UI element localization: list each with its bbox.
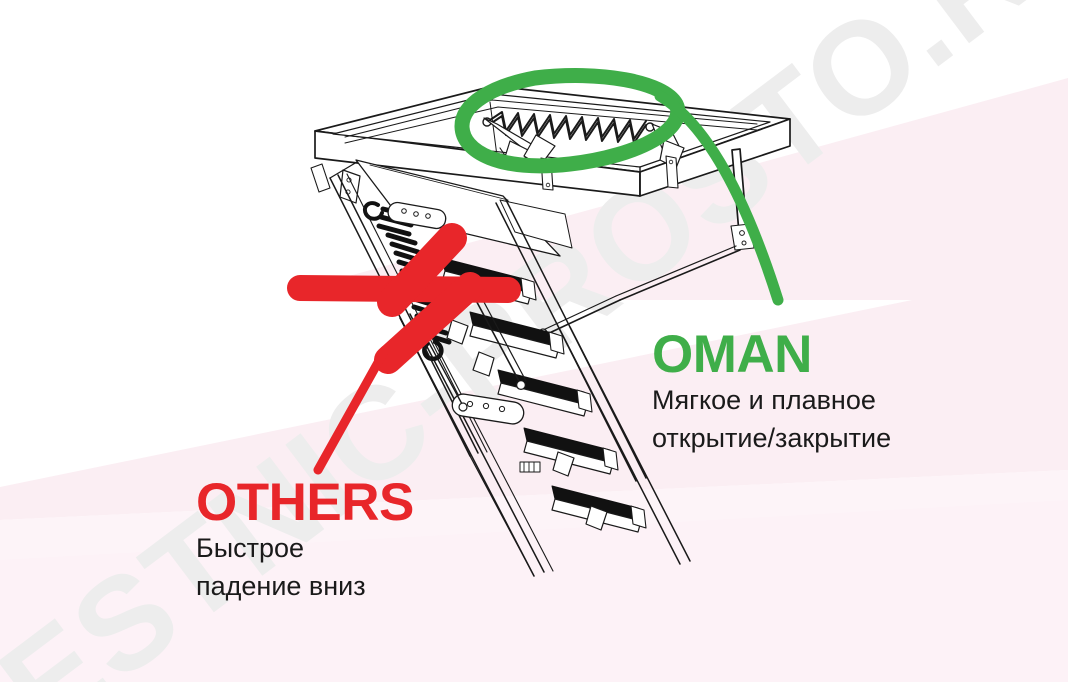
others-headline: OTHERS — [196, 476, 414, 529]
oman-description-line-2: открытие/закрытие — [652, 419, 891, 457]
others-description-line-2: падение вниз — [196, 567, 414, 605]
oman-description-line-1: Мягкое и плавное — [652, 381, 891, 419]
others-description: Быстрое падение вниз — [196, 529, 414, 606]
others-description-line-1: Быстрое — [196, 529, 414, 567]
others-annotation-block: OTHERS Быстрое падение вниз — [196, 476, 414, 606]
oman-headline: OMAN — [652, 328, 891, 381]
oman-annotation-block: OMAN Мягкое и плавное открытие/закрытие — [652, 328, 891, 458]
annotation-labels: OMAN Мягкое и плавное открытие/закрытие … — [0, 0, 1068, 682]
oman-description: Мягкое и плавное открытие/закрытие — [652, 381, 891, 458]
illustration-canvas: LESTNIC-PROSTO.RU — [0, 0, 1068, 682]
